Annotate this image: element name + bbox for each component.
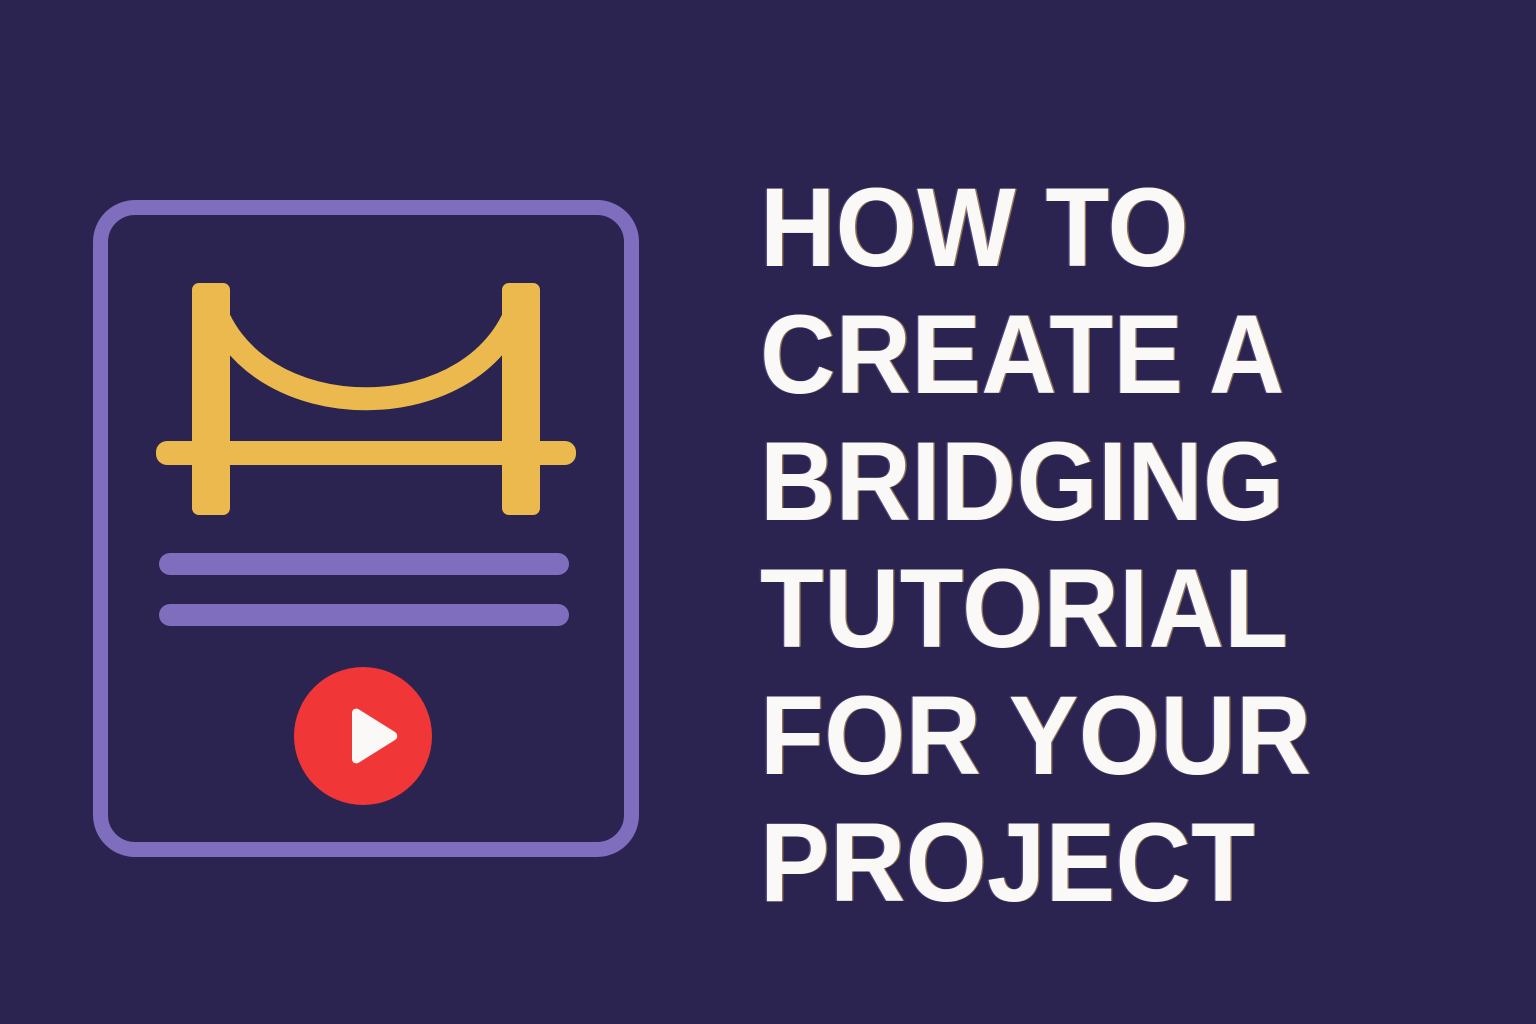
headline-line-1: HOW TO (760, 164, 1411, 291)
placeholder-text-line (159, 553, 569, 575)
headline-line-4: TUTORIAL (760, 545, 1411, 672)
headline-line-3: BRIDGING (760, 418, 1411, 545)
play-icon (344, 707, 402, 765)
headline-line-6: PROJECT (760, 799, 1411, 926)
placeholder-text-line (159, 604, 569, 626)
bridge-icon (156, 283, 576, 523)
page-title: HOW TO CREATE A BRIDGING TUTORIAL FOR YO… (760, 164, 1460, 926)
tutorial-illustration (93, 200, 639, 857)
play-button[interactable] (294, 667, 432, 805)
headline-line-5: FOR YOUR (760, 672, 1411, 799)
headline-line-2: CREATE A (760, 291, 1411, 418)
title-card-canvas: HOW TO CREATE A BRIDGING TUTORIAL FOR YO… (0, 0, 1536, 1024)
